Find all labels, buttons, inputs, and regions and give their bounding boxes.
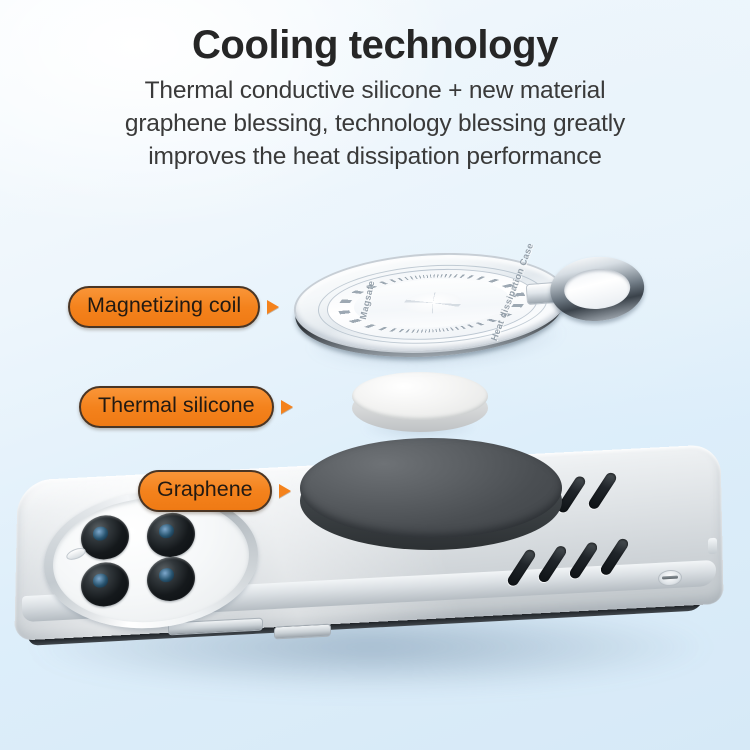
thermal-silicone-disc [352, 372, 488, 436]
finger-ring-kickstand [524, 254, 647, 328]
magnetizing-coil-puck: Magsafe Heat dissipation Case [286, 242, 592, 374]
callout-magnetizing-coil: Magnetizing coil [68, 286, 279, 328]
graphene-top-face [300, 438, 562, 538]
callout-graphene: Graphene [138, 470, 291, 512]
graphene-disc [300, 438, 562, 554]
triangle-right-icon [279, 484, 291, 498]
header: Cooling technology Thermal conductive si… [0, 24, 750, 174]
page-subtitle: Thermal conductive silicone + new materi… [55, 75, 695, 173]
triangle-right-icon [267, 300, 279, 314]
silicone-top-face [352, 372, 488, 420]
triangle-right-icon [281, 400, 293, 414]
case-side-cutout [708, 538, 717, 554]
callout-label: Graphene [138, 470, 272, 512]
infographic-canvas: Cooling technology Thermal conductive si… [0, 0, 750, 750]
callout-label: Magnetizing coil [68, 286, 260, 328]
subtitle-line-2: graphene blessing, technology blessing g… [55, 108, 695, 141]
callout-label: Thermal silicone [79, 386, 274, 428]
page-title: Cooling technology [0, 24, 750, 67]
subtitle-line-3: improves the heat dissipation performanc… [55, 141, 695, 174]
callout-thermal-silicone: Thermal silicone [79, 386, 293, 428]
subtitle-line-1: Thermal conductive silicone + new materi… [55, 75, 695, 108]
